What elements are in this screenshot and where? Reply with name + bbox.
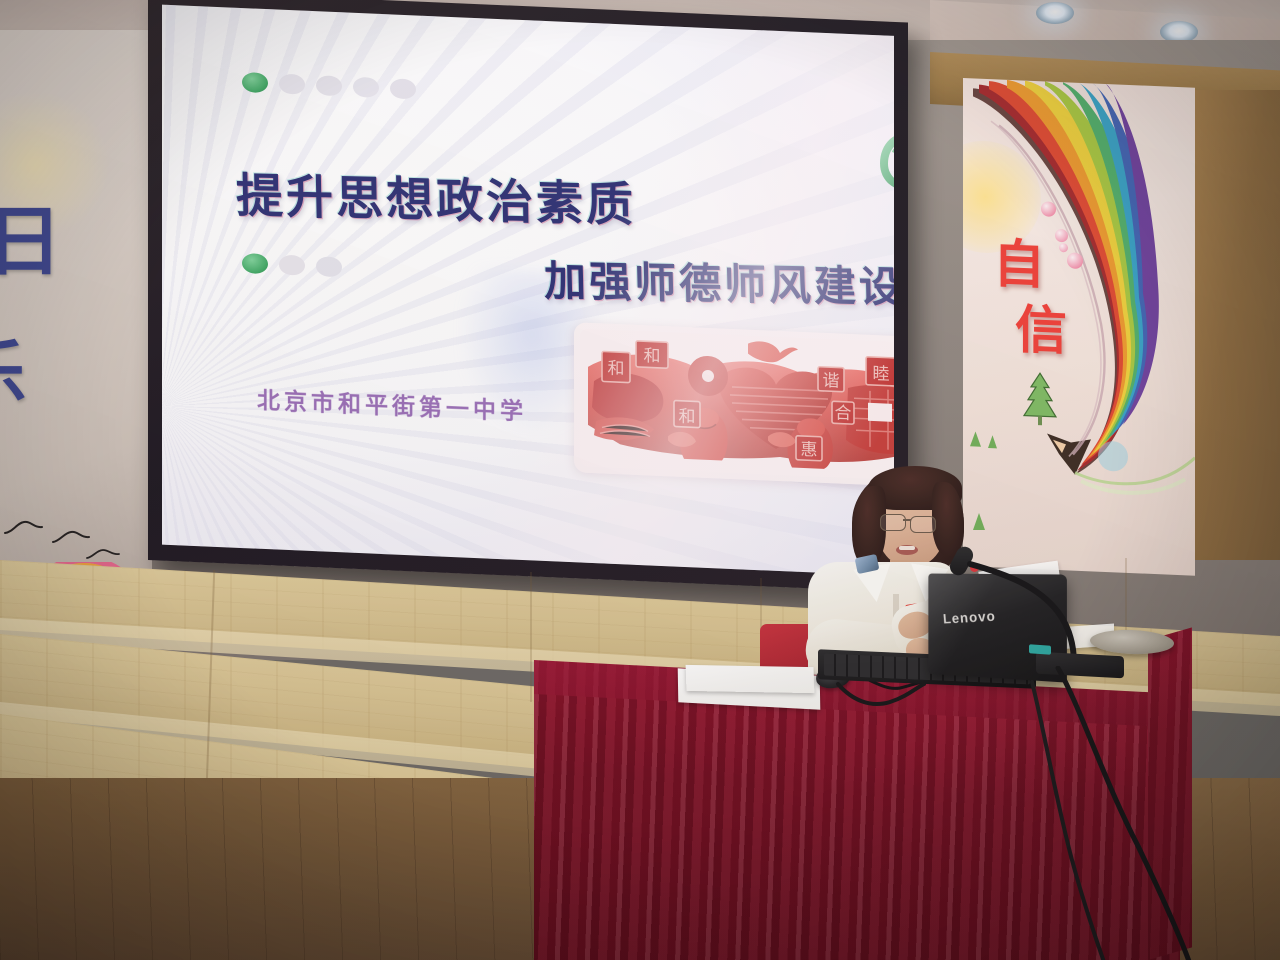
slide-dot-2: [279, 74, 305, 95]
downlight-1: [1036, 2, 1074, 24]
auditorium-presentation-photo: 日 乐: [0, 0, 1280, 960]
red-harmony-relief-carving: 和 和 睦 谐 合 和 惠: [574, 322, 894, 487]
presenter-teeth: [899, 546, 915, 550]
paper-sheet-top: [686, 665, 815, 693]
slide-title-line-1: 提升思想政治素质: [235, 157, 636, 235]
left-decorated-wall: 日 乐: [0, 30, 152, 590]
slide-dot-r2-1: [242, 253, 268, 274]
slide-title-line-2: 加强师德师风建设: [543, 247, 894, 315]
svg-text:合: 合: [835, 403, 852, 424]
bird-silhouette-3: [86, 548, 126, 561]
pine-tree-small-2: [987, 434, 998, 451]
bird-silhouette-2: [52, 530, 98, 546]
projection-screen-frame: 提升思想政治素质 加强师德师风建设 北京市和平街第一中学: [148, 0, 908, 593]
pine-tree-large: [1023, 371, 1057, 428]
slide-dot-3: [316, 75, 342, 96]
slide-dot-5: [390, 78, 416, 99]
pine-tree-near-screen-2: [972, 512, 986, 535]
mural-bubble-3: [1059, 243, 1068, 252]
relief-artwork: 和 和 睦 谐 合 和 惠: [580, 328, 894, 481]
pine-tree-small-1: [969, 430, 982, 451]
mural-character-xin: 信: [1015, 287, 1067, 364]
svg-text:和: 和: [679, 407, 696, 428]
svg-text:和: 和: [608, 359, 625, 380]
bird-silhouette-1: [4, 520, 52, 536]
teal-marker-sticker: [1029, 644, 1051, 655]
glasses-lens-left: [880, 514, 906, 531]
slide-dot-r2-3: [316, 256, 342, 277]
slide-dot-r2-2: [279, 255, 305, 276]
svg-text:惠: 惠: [801, 440, 818, 461]
mural-bubble-2: [1055, 229, 1068, 243]
mural-bubble-4: [1067, 252, 1083, 269]
slide-dots-row-2: [242, 253, 342, 277]
slide-dot-4: [353, 77, 379, 98]
svg-text:睦: 睦: [873, 364, 890, 385]
sprout-leaf-logo: [874, 123, 894, 203]
right-wood-wall-panel: [1192, 90, 1280, 560]
rainbow-pencil-mural: 自 信: [963, 78, 1195, 576]
secondary-cable: [1026, 680, 1166, 960]
svg-text:谐: 谐: [823, 371, 840, 392]
svg-text:和: 和: [644, 346, 661, 367]
mural-bubble-1: [1041, 201, 1056, 217]
slide-dot-1: [242, 72, 268, 93]
rainbow-pencil-graphic: [963, 78, 1195, 518]
mic-cable: [836, 678, 926, 718]
left-wall-character-1: 日: [0, 180, 62, 290]
glasses-lens-right: [910, 516, 936, 533]
projection-screen: 提升思想政治素质 加强师德师风建设 北京市和平街第一中学: [162, 5, 894, 576]
riser-seam-2: [530, 572, 532, 702]
left-wall-character-2: 乐: [0, 318, 26, 419]
glasses-bridge: [903, 519, 911, 521]
